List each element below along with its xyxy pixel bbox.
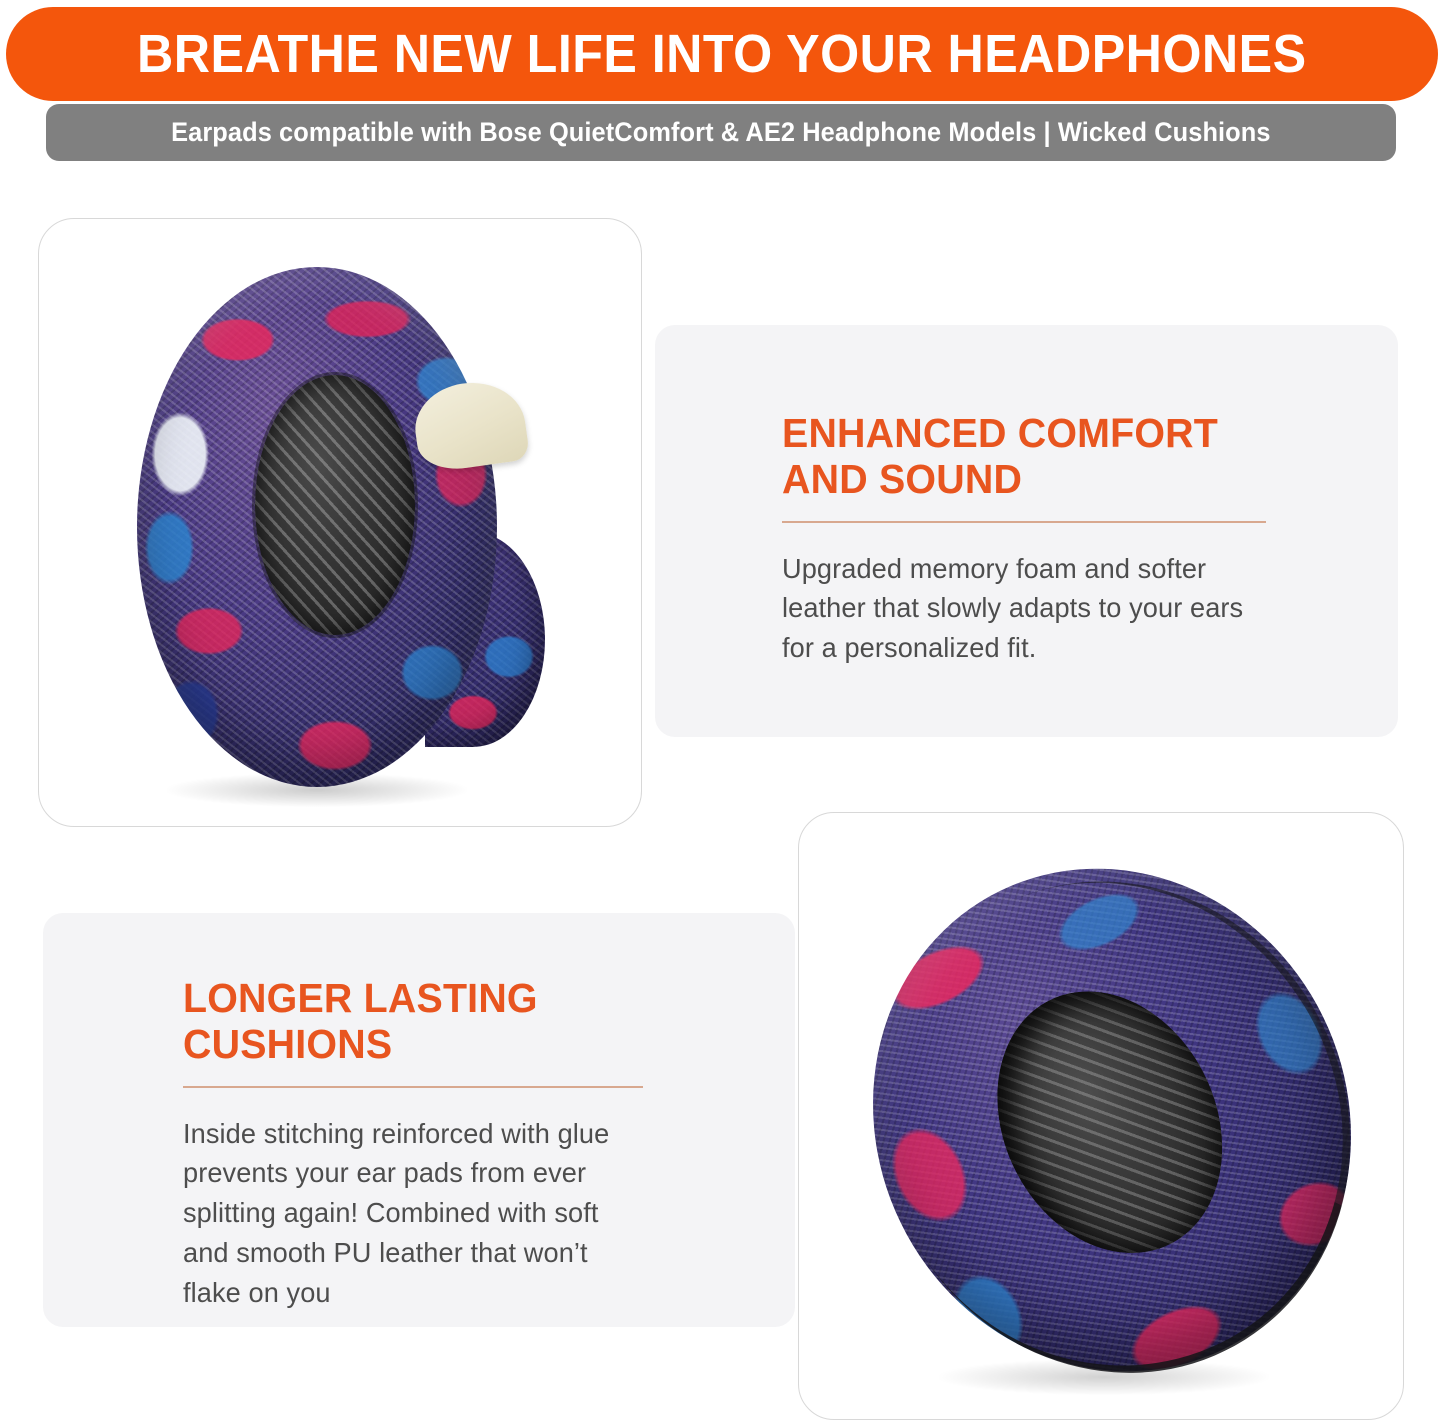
banner-title: BREATHE NEW LIFE INTO YOUR HEADPHONES [137,27,1307,81]
feature-panel-longer-lasting-cushions: LONGER LASTING CUSHIONS Inside stitching… [43,913,795,1327]
image-stage [39,219,641,826]
feature-body-longer-lasting-cushions: Inside stitching reinforced with glue pr… [183,1114,629,1313]
panel-content: ENHANCED COMFORT AND SOUND Upgraded memo… [782,410,1266,668]
feature-body-enhanced-comfort: Upgraded memory foam and softer leather … [782,549,1251,668]
earpad-angled-view-icon [798,812,1404,1420]
heading-divider [782,521,1266,523]
image-stage [799,813,1403,1419]
product-infographic: BREATHE NEW LIFE INTO YOUR HEADPHONES Ea… [0,0,1445,1428]
heading-divider [183,1086,643,1088]
feature-heading-enhanced-comfort: ENHANCED COMFORT AND SOUND [782,410,1247,503]
panel-content: LONGER LASTING CUSHIONS Inside stitching… [183,975,643,1312]
compatibility-subtitle-bar: Earpads compatible with Bose QuietComfor… [46,104,1396,161]
feature-heading-longer-lasting-cushions: LONGER LASTING CUSHIONS [183,975,625,1068]
earpad-front-view-icon [127,257,527,797]
earpad-acoustic-mesh-oval [255,375,415,635]
feature-panel-enhanced-comfort: ENHANCED COMFORT AND SOUND Upgraded memo… [655,325,1398,737]
compatibility-subtitle: Earpads compatible with Bose QuietComfor… [171,119,1271,146]
header-banner: BREATHE NEW LIFE INTO YOUR HEADPHONES [6,7,1438,101]
product-image-card-front-view [38,218,642,827]
product-image-card-angled-view [798,812,1404,1420]
